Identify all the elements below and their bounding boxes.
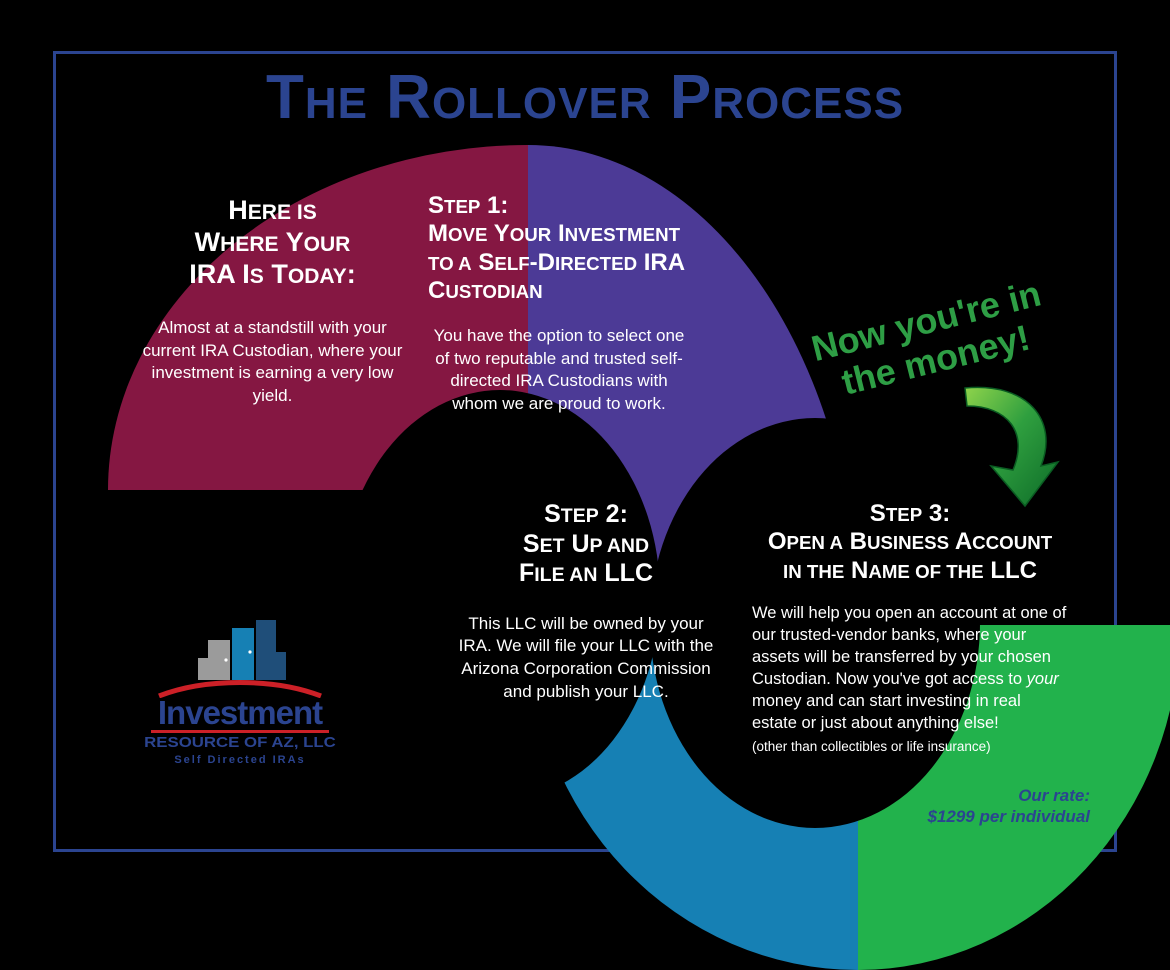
section-step2-body: This LLC will be owned by your IRA. We w… xyxy=(450,613,722,704)
step1-heading-line-2: TO A SELF-DIRECTED IRA xyxy=(428,249,690,277)
title-word-rollover: ROLLOVER xyxy=(386,63,651,132)
infographic-canvas: THE ROLLOVER PROCESS HERE IS WHERE YOUR … xyxy=(0,0,1170,904)
logo-subtitle-1: RESOURCE OF AZ, LLC xyxy=(134,734,347,751)
page-title: THE ROLLOVER PROCESS xyxy=(0,62,1170,133)
today-heading-line-3: IRA IS TODAY: xyxy=(135,259,410,291)
section-step1: STEP 1: MOVE YOUR INVESTMENT TO A SELF-D… xyxy=(428,192,690,416)
section-step3-heading: STEP 3: OPEN A BUSINESS ACCOUNT IN THE N… xyxy=(752,500,1068,585)
section-step2: STEP 2: SET UP AND FILE AN LLC This LLC … xyxy=(450,500,722,704)
step3-body-part2: money and can start investing in real es… xyxy=(752,692,1021,732)
title-word-the: THE xyxy=(266,63,368,132)
today-heading-line-1: HERE IS xyxy=(135,195,410,227)
section-today-heading: HERE IS WHERE YOUR IRA IS TODAY: xyxy=(135,195,410,291)
step1-heading-line-1: MOVE YOUR INVESTMENT xyxy=(428,220,690,248)
section-today: HERE IS WHERE YOUR IRA IS TODAY: Almost … xyxy=(135,195,410,408)
curved-down-arrow-icon xyxy=(955,380,1065,510)
rate-line-1: Our rate: xyxy=(0,785,1090,806)
step2-label: STEP 2: xyxy=(450,500,722,530)
step1-label: STEP 1: xyxy=(428,192,690,220)
step3-heading-line-1: OPEN A BUSINESS ACCOUNT xyxy=(752,528,1068,556)
section-step2-heading: STEP 2: SET UP AND FILE AN LLC xyxy=(450,500,722,589)
section-step3: STEP 3: OPEN A BUSINESS ACCOUNT IN THE N… xyxy=(752,500,1068,755)
rate-note: Our rate: $1299 per individual xyxy=(0,785,1090,828)
step3-heading-line-2: IN THE NAME OF THE LLC xyxy=(752,557,1068,585)
section-step1-heading: STEP 1: MOVE YOUR INVESTMENT TO A SELF-D… xyxy=(428,192,690,305)
step3-paren-note: (other than collectibles or life insuran… xyxy=(752,739,1068,755)
company-logo: Investment RESOURCE OF AZ, LLC Self Dire… xyxy=(145,618,335,758)
step1-heading-line-3: CUSTODIAN xyxy=(428,277,690,305)
step2-heading-line-1: SET UP AND xyxy=(450,530,722,560)
step3-body-emphasis: your xyxy=(1027,670,1059,688)
step3-body-part1: We will help you open an account at one … xyxy=(752,604,1066,688)
section-today-body: Almost at a standstill with your current… xyxy=(135,317,410,409)
rate-line-2: $1299 per individual xyxy=(0,806,1090,827)
logo-subtitle-2: Self Directed IRAs xyxy=(145,754,335,766)
logo-arc xyxy=(155,680,325,696)
logo-wordmark: Investment xyxy=(145,696,335,729)
section-step1-body: You have the option to select one of two… xyxy=(428,325,690,415)
section-step3-body: We will help you open an account at one … xyxy=(752,603,1068,735)
today-heading-line-2: WHERE YOUR xyxy=(135,227,410,259)
buildings-skyline-icon xyxy=(190,618,290,678)
step2-heading-line-2: FILE AN LLC xyxy=(450,559,722,589)
title-word-process: PROCESS xyxy=(670,63,904,132)
